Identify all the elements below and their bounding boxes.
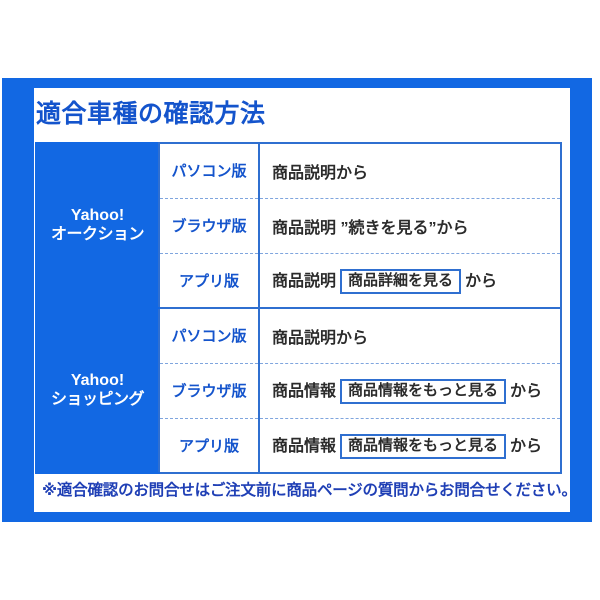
description-cell: 商品情報商品情報をもっと見るから [259,363,561,418]
version-label-pc: パソコン版 [159,308,259,363]
description-text: 商品情報 [272,383,336,400]
description-text: 商品説明 ”続きを見る”から [272,220,468,237]
version-label-pc: パソコン版 [159,143,259,198]
brand-cell-shopping: Yahoo! ショッピング [36,308,159,473]
brand-label-line1: Yahoo! [37,207,158,225]
description-cell: 商品情報商品情報をもっと見るから [259,418,561,473]
description-text: 商品説明 [272,273,336,290]
inline-button-more-product-info[interactable]: 商品情報をもっと見る [340,379,506,404]
description-text: 商品情報 [272,438,336,455]
description-text: 商品説明から [272,330,368,347]
brand-label-line2: ショッピング [37,391,158,409]
version-label-browser: ブラウザ版 [159,363,259,418]
version-label-app: アプリ版 [159,418,259,473]
version-label-app: アプリ版 [159,253,259,308]
table-row: Yahoo! ショッピング パソコン版 商品説明から [36,308,561,363]
description-cell: 商品説明から [259,143,561,198]
version-label-browser: ブラウザ版 [159,198,259,253]
brand-label-line1: Yahoo! [37,372,158,390]
page-title: 適合車種の確認方法 [36,102,266,127]
description-text: 商品説明から [272,165,368,182]
inline-button-product-detail[interactable]: 商品詳細を見る [340,269,461,294]
footer-note: ※適合確認のお問合せはご注文前に商品ページの質問からお問合せください。 [42,478,562,500]
description-cell: 商品説明から [259,308,561,363]
compatibility-check-table: Yahoo! オークション パソコン版 商品説明から ブラウザ版 商品説明 ”続… [35,142,562,474]
description-cell: 商品説明 ”続きを見る”から [259,198,561,253]
brand-label-line2: オークション [37,226,158,244]
inline-button-more-product-info[interactable]: 商品情報をもっと見る [340,434,506,459]
description-suffix: から [510,383,542,400]
brand-cell-auction: Yahoo! オークション [36,143,159,308]
description-suffix: から [465,273,497,290]
description-cell: 商品説明商品詳細を見るから [259,253,561,308]
table-row: Yahoo! オークション パソコン版 商品説明から [36,143,561,198]
description-suffix: から [510,438,542,455]
